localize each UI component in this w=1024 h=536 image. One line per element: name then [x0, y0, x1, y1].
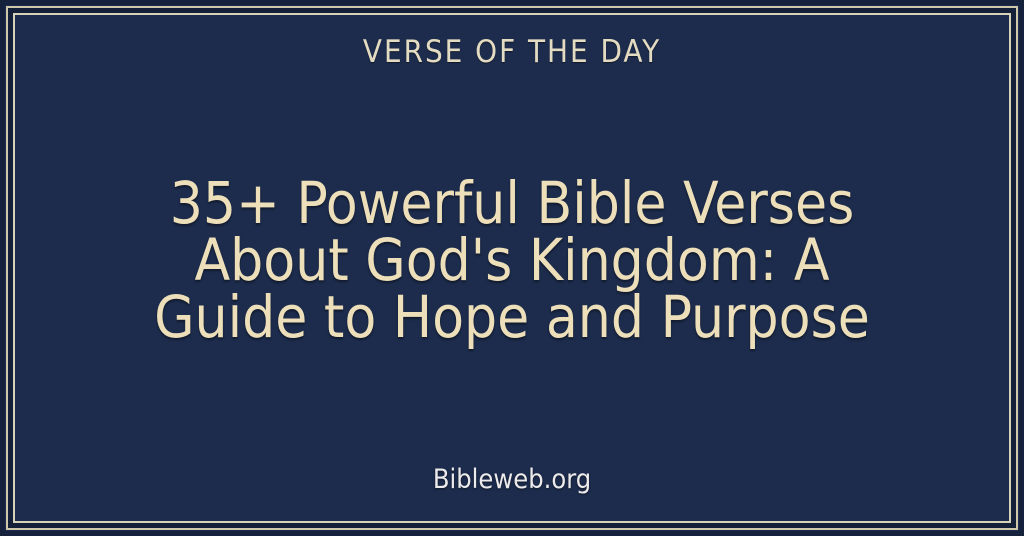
title-line-3: Guide to Hope and Purpose — [39, 289, 985, 346]
title-line-1: 35+ Powerful Bible Verses — [39, 175, 985, 232]
page-title: 35+ Powerful Bible Verses About God's Ki… — [15, 175, 1009, 346]
site-name: Bibleweb.org — [433, 464, 591, 495]
footer: Bibleweb.org — [15, 466, 1009, 493]
title-line-2: About God's Kingdom: A — [39, 232, 985, 289]
eyebrow-label: VERSE OF THE DAY — [363, 37, 661, 68]
card-content: VERSE OF THE DAY 35+ Powerful Bible Vers… — [15, 15, 1009, 521]
verse-of-the-day-card: VERSE OF THE DAY 35+ Powerful Bible Vers… — [0, 0, 1024, 536]
